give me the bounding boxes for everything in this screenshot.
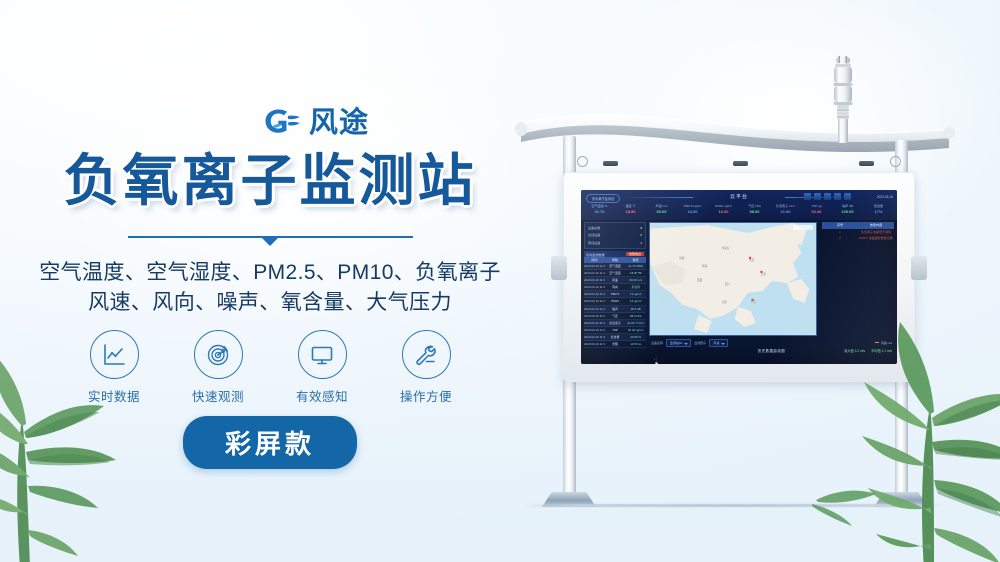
cell-time: 2023-03-16 11:30:22 [584, 284, 605, 290]
map-icon[interactable] [824, 193, 831, 200]
cell-param: 空气湿度 [605, 263, 626, 269]
stat-label: 设备总数 [588, 225, 600, 232]
factor-select-label: 监测因子 [694, 341, 706, 345]
cell-time: 2023-03-16 11:30:22 [584, 306, 605, 312]
stat-value: 2 [640, 232, 642, 239]
metric-tile: 氧含量 17% [863, 204, 894, 215]
monitor-icon [298, 330, 347, 379]
table-row[interactable]: 2023-03-16 11:30:22 氧含量 20.90 % [584, 334, 646, 341]
metric-value: 100.00 [832, 209, 863, 215]
cell-time: 2023-03-16 11:30:22 [584, 270, 605, 276]
factor-select[interactable]: 风速 [709, 339, 728, 347]
cell-param: 负氧离子 [605, 320, 626, 326]
page-title: 负氧离子监测站 [0, 152, 540, 211]
table-row[interactable]: 2023-03-16 11:30:22 风速 00.00 m/s [584, 277, 646, 284]
banana-leaf-plant-icon [782, 322, 1000, 562]
wrench-icon [402, 330, 451, 379]
cell-value: 41.70 %RH [625, 263, 646, 269]
svg-text:青海: 青海 [702, 264, 707, 268]
alarm-row[interactable]: 2 PM2.5 浓度超标告警记录 [822, 235, 894, 242]
metric-value: 98.00 [739, 209, 770, 215]
cell-value: 13 ug/m³ [625, 291, 646, 297]
brand-name: 风途 [309, 109, 369, 138]
device-select-label: 设备名称 [651, 341, 663, 345]
cell-param: 氧含量 [605, 334, 626, 340]
stat-value: 1 [640, 240, 642, 247]
svg-text:新疆: 新疆 [679, 256, 684, 260]
metric-value: 00.00 [646, 209, 677, 215]
promo-poster: 风途 负氧离子监测站 空气温度、空气湿度、PM2.5、PM10、负氧离子 风速、… [0, 0, 1000, 562]
metric-value: 13.00 [677, 209, 708, 215]
device-stats: 设备总数 3 在线设备 2 离线设备 1 [584, 222, 646, 249]
cell-param: 空气温度 [605, 270, 626, 276]
cell-param: 噪声 [605, 306, 626, 312]
title-divider [0, 236, 540, 238]
cabinet-ring [890, 156, 901, 167]
cabinet-mount-right [911, 256, 927, 280]
alarm-col-header: 告警内容 [858, 222, 894, 229]
table-row[interactable]: 2023-03-16 11:30:22 气压 98.0 kPa [584, 313, 646, 320]
cell-param: PM2.5 [605, 291, 626, 297]
cell-value: 16 ug/m³ [625, 298, 646, 304]
stat-row: 在线设备 2 [588, 232, 642, 239]
svg-text:内蒙古: 内蒙古 [722, 246, 730, 250]
device-distribution-map[interactable]: 新疆 西藏 内蒙古 青海 四川 云南 广东 北京 上海 [649, 222, 817, 336]
alarm-message: 负氧离子浓度低于阈值 [858, 229, 894, 236]
metric-strip: 空气湿度 % 41.70 温度 ℃ 18.90 风速 m/s 00.00 [584, 204, 894, 215]
svg-text:西藏: 西藏 [697, 278, 702, 282]
table-row[interactable]: 2023-03-16 11:30:22 风向 东北风 [584, 284, 646, 291]
cell-param: 光照 [605, 341, 626, 347]
svg-text:四川: 四川 [725, 282, 730, 286]
cell-value: 02.40 ug/m³ [625, 327, 646, 333]
alarm-col-header: 序号 [822, 222, 858, 229]
variant-badge[interactable]: 彩屏款 [183, 416, 357, 469]
metric-value: 17% [863, 209, 894, 215]
cabinet-ring [577, 156, 588, 167]
metric-tile: PM10 ug/m³ 16.00 [708, 204, 739, 215]
cell-value: 18.90 ℃ [625, 270, 646, 276]
metric-value: 16.00 [708, 209, 739, 215]
svg-text:云南: 云南 [722, 300, 727, 304]
subtitle-line-2: 风速、风向、噪声、氧含量、大气压力 [0, 288, 540, 318]
dashboard-header: 云平台 负氧离子监测站 2023-03-16 空气湿度 % [581, 190, 897, 220]
metric-tile: 温度 ℃ 18.90 [615, 204, 646, 215]
table-row[interactable]: 2023-03-16 11:30:22 负氧离子 21.00 个/cm³ [584, 320, 646, 327]
metric-tile: 气压 hPa 98.00 [739, 204, 770, 215]
table-body: 2023-03-16 11:30:22 空气湿度 41.70 %RH 2023-… [584, 263, 646, 348]
stat-row: 设备总数 3 [588, 225, 642, 232]
table-row[interactable]: 2023-03-16 11:30:22 PM2.5 13 ug/m³ [584, 291, 646, 298]
cell-value: 东北风 [625, 284, 646, 290]
cell-value: 21.00 个/cm³ [625, 320, 646, 326]
cell-param: TSP [605, 327, 626, 333]
svg-text:4: 4 [654, 359, 656, 361]
cell-value: 38.5 dB [625, 306, 646, 312]
table-row[interactable]: 2023-03-16 11:30:22 噪声 38.5 dB [584, 306, 646, 313]
cell-value: 00.00 m/s [625, 277, 646, 283]
cell-value: 98.0 kPa [625, 313, 646, 319]
user-icon[interactable] [844, 193, 851, 200]
cell-time: 2023-03-16 11:30:22 [584, 313, 605, 319]
cell-time: 2023-03-16 11:30:22 [584, 277, 605, 283]
chart-icon[interactable] [814, 193, 821, 200]
subtitle-line-1: 空气温度、空气湿度、PM2.5、PM10、负氧离子 [0, 258, 540, 288]
alarm-index: 2 [822, 235, 858, 242]
wind-leaf-g-logo-icon [258, 104, 302, 142]
stat-label: 离线设备 [588, 240, 600, 247]
metric-tile: 负氧离子 /cm³ 21.00 [770, 204, 801, 215]
cell-param: 气压 [605, 313, 626, 319]
left-panel: 设备总数 3 在线设备 2 离线设备 1 [584, 222, 646, 361]
table-row[interactable]: 2023-03-16 11:30:22 空气温度 18.90 ℃ [584, 270, 646, 277]
metric-value: 02.40 [801, 209, 832, 215]
metric-value: 21.00 [770, 209, 801, 215]
table-row[interactable]: 2023-03-16 11:30:22 PM10 16 ug/m³ [584, 298, 646, 305]
alarm-message: PM2.5 浓度超标告警记录 [858, 235, 894, 242]
cell-value: 1170 lux [625, 341, 646, 347]
table-row[interactable]: 2023-03-16 11:30:22 TSP 02.40 ug/m³ [584, 327, 646, 334]
alarm-header-row: 序号 告警内容 [822, 222, 894, 229]
cell-time: 2023-03-16 11:30:22 [584, 341, 605, 347]
alarm-badge[interactable]: 告警信息 [626, 252, 644, 256]
cell-time: 2023-03-16 11:30:22 [584, 334, 605, 340]
alarm-icon[interactable] [834, 193, 841, 200]
metric-tile: PM2.5 ug/m³ 13.00 [677, 204, 708, 215]
banana-leaf-plant-icon [0, 340, 206, 562]
cabinet-hanger [603, 161, 618, 166]
cell-time: 2023-03-16 11:30:22 [584, 291, 605, 297]
stat-value: 3 [640, 225, 642, 232]
table-caption: 实时监测数据 [586, 252, 605, 257]
ultrasonic-weather-sensor-icon [827, 55, 859, 145]
stat-row: 离线设备 1 [588, 240, 642, 247]
feature-item-effective-sensing[interactable]: 有效感知 [289, 330, 355, 405]
cell-param: 风速 [605, 277, 626, 283]
metric-value: 41.70 [584, 209, 615, 215]
metric-tile: TSP μg 02.40 [801, 204, 832, 215]
brand-logo: 风途 [258, 104, 369, 142]
cabinet-mount-left [551, 256, 567, 280]
down-triangle-divider-icon [128, 236, 413, 238]
cell-value: 20.90 % [625, 334, 646, 340]
table-row[interactable]: 2023-03-16 11:30:22 光照 1170 lux [584, 341, 646, 348]
cell-time: 2023-03-16 11:30:22 [584, 320, 605, 326]
stat-label: 在线设备 [588, 232, 600, 239]
cabinet-hanger [859, 161, 874, 166]
home-icon[interactable] [804, 193, 811, 200]
metric-value: 18.90 [615, 209, 646, 215]
table-row[interactable]: 2023-03-16 11:30:22 空气湿度 41.70 %RH [584, 263, 646, 270]
cell-time: 2023-03-16 11:30:22 [584, 327, 605, 333]
feature-item-easy-operation[interactable]: 操作方便 [393, 330, 459, 405]
cell-param: 风向 [605, 284, 626, 290]
alarm-index: 1 [822, 229, 858, 236]
subtitle: 空气温度、空气湿度、PM2.5、PM10、负氧离子 风速、风向、噪声、氧含量、大… [0, 258, 540, 318]
metric-tile: 风速 m/s 00.00 [646, 204, 677, 215]
device-select[interactable]: 监测站01 [666, 339, 691, 347]
feature-label: 有效感知 [296, 386, 348, 405]
metric-tile: 空气湿度 % 41.70 [584, 204, 615, 215]
dashboard-toolbar[interactable] [804, 193, 851, 200]
metric-tile: 噪声 dB 100.00 [832, 204, 863, 215]
cell-param: PM10 [605, 298, 626, 304]
feature-label: 操作方便 [400, 386, 452, 405]
station-chip[interactable]: 负氧离子监测站 [586, 194, 620, 203]
cabinet-hanger [733, 161, 748, 166]
alarm-row[interactable]: 1 负氧离子浓度低于阈值 [822, 229, 894, 236]
cell-time: 2023-03-16 11:30:22 [584, 263, 605, 269]
dashboard-clock: 2023-03-16 [877, 195, 893, 199]
cell-time: 2023-03-16 11:30:22 [584, 298, 605, 304]
